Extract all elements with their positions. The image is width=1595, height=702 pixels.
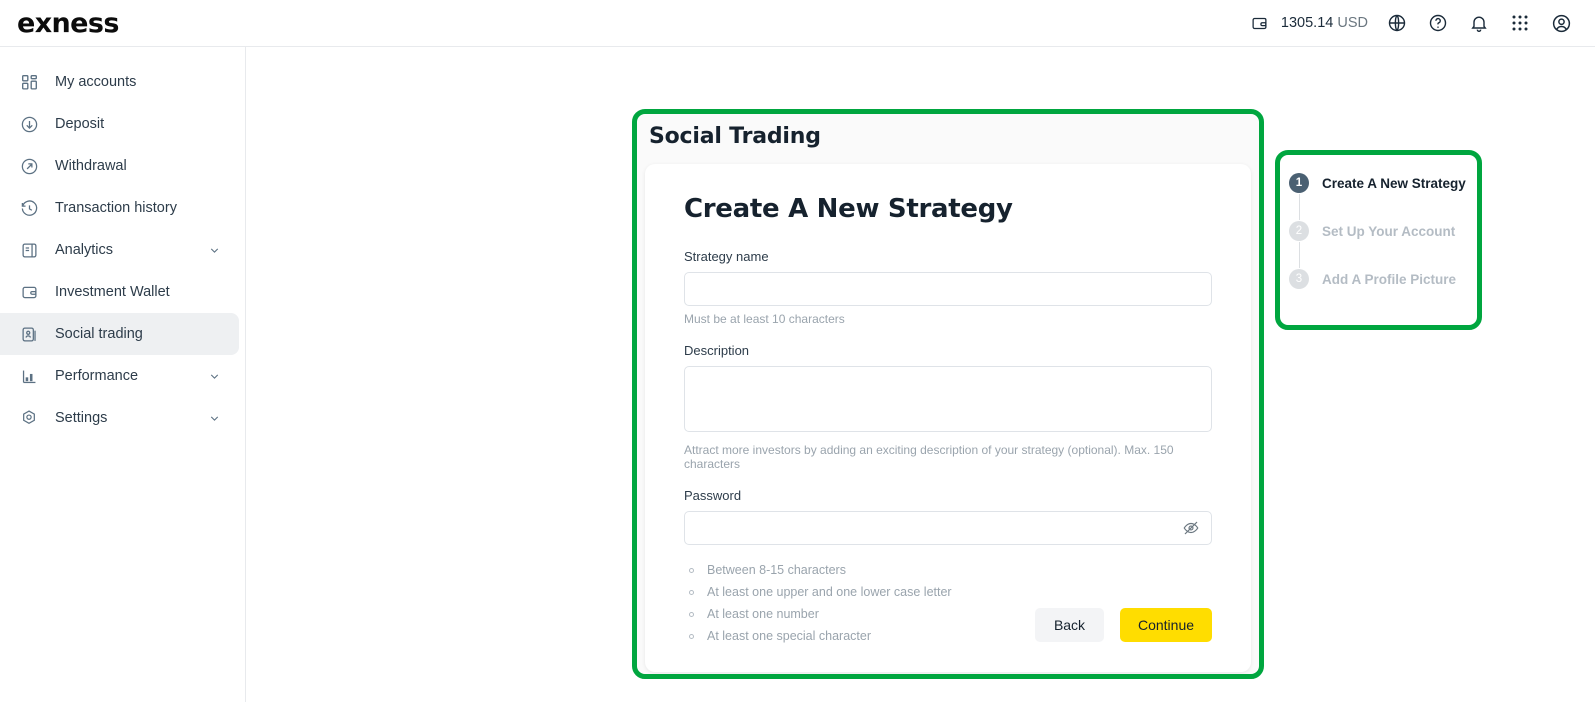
- password-rule-text: At least one number: [707, 607, 819, 621]
- card-title: Create A New Strategy: [684, 194, 1212, 224]
- sidebar-item-label: Transaction history: [55, 200, 177, 216]
- step-connector-line: [1299, 194, 1300, 220]
- strategy-name-field-group: Strategy name Must be at least 10 charac…: [684, 249, 1212, 326]
- sidebar-item-performance[interactable]: Performance: [0, 355, 239, 397]
- strategy-name-label: Strategy name: [684, 249, 1212, 264]
- description-field-group: Description Attract more investors by ad…: [684, 343, 1212, 471]
- password-rule-item: At least one upper and one lower case le…: [684, 581, 1212, 603]
- history-clock-icon: [18, 197, 40, 219]
- form-actions: Back Continue: [1035, 608, 1212, 642]
- sidebar-item-transaction-history[interactable]: Transaction history: [0, 187, 239, 229]
- step-item-2[interactable]: 2 Set Up Your Account: [1289, 220, 1474, 242]
- sidebar-item-label: Withdrawal: [55, 158, 127, 174]
- password-rule-text: At least one special character: [707, 629, 871, 643]
- strategy-name-input[interactable]: [684, 272, 1212, 306]
- bell-icon[interactable]: [1467, 11, 1491, 35]
- app-header: exness 1305.14 USD: [0, 0, 1595, 47]
- exness-logo: exness: [17, 8, 119, 39]
- globe-icon[interactable]: [1385, 11, 1409, 35]
- sidebar-item-label: Performance: [55, 368, 138, 384]
- balance-amount: 1305.14: [1281, 15, 1333, 31]
- sidebar-item-withdrawal[interactable]: Withdrawal: [0, 145, 239, 187]
- chevron-down-icon[interactable]: [208, 370, 221, 383]
- withdrawal-arrow-up-icon: [18, 155, 40, 177]
- continue-button[interactable]: Continue: [1120, 608, 1212, 642]
- description-helper: Attract more investors by adding an exci…: [684, 443, 1212, 471]
- account-icon[interactable]: [1549, 11, 1573, 35]
- chevron-down-icon[interactable]: [208, 412, 221, 425]
- balance-value: 1305.14 USD: [1281, 15, 1368, 31]
- description-textarea[interactable]: [684, 366, 1212, 432]
- password-rule-text: At least one upper and one lower case le…: [707, 585, 952, 599]
- password-input[interactable]: [684, 511, 1212, 545]
- sidebar-item-label: Analytics: [55, 242, 113, 258]
- bullet-circle-icon: [689, 634, 694, 639]
- dashboard-icon: [18, 71, 40, 93]
- strategy-name-helper: Must be at least 10 characters: [684, 312, 1212, 326]
- description-label: Description: [684, 343, 1212, 358]
- bullet-circle-icon: [689, 612, 694, 617]
- bar-chart-icon: [18, 365, 40, 387]
- header-actions: 1305.14 USD: [1248, 11, 1573, 35]
- sidebar-item-settings[interactable]: Settings: [0, 397, 239, 439]
- step-connector-line: [1299, 242, 1300, 268]
- social-trading-icon: [18, 323, 40, 345]
- sidebar-item-analytics[interactable]: Analytics: [0, 229, 239, 271]
- apps-grid-icon[interactable]: [1508, 11, 1532, 35]
- wallet-icon: [18, 281, 40, 303]
- step-number-badge: 2: [1289, 221, 1309, 241]
- balance-currency: USD: [1337, 15, 1368, 31]
- sidebar-item-label: Investment Wallet: [55, 284, 170, 300]
- back-button[interactable]: Back: [1035, 608, 1104, 642]
- social-trading-panel: Social Trading Create A New Strategy Str…: [637, 114, 1259, 674]
- balance-display[interactable]: 1305.14 USD: [1248, 11, 1368, 35]
- step-label: Set Up Your Account: [1322, 224, 1455, 239]
- sidebar-item-label: Settings: [55, 410, 107, 426]
- password-rule-text: Between 8-15 characters: [707, 563, 846, 577]
- analytics-document-icon: [18, 239, 40, 261]
- step-number-badge: 1: [1289, 173, 1309, 193]
- create-strategy-card: Create A New Strategy Strategy name Must…: [645, 164, 1251, 672]
- sidebar-item-my-accounts[interactable]: My accounts: [0, 61, 239, 103]
- settings-gear-icon: [18, 407, 40, 429]
- step-item-1[interactable]: 1 Create A New Strategy: [1289, 172, 1474, 194]
- sidebar-item-label: My accounts: [55, 74, 136, 90]
- help-icon[interactable]: [1426, 11, 1450, 35]
- page-title: Social Trading: [649, 124, 821, 149]
- bullet-circle-icon: [689, 568, 694, 573]
- password-input-wrapper: [684, 511, 1212, 545]
- step-item-3[interactable]: 3 Add A Profile Picture: [1289, 268, 1474, 290]
- steps-progress-panel: 1 Create A New Strategy 2 Set Up Your Ac…: [1283, 158, 1474, 322]
- main-content: Social Trading Create A New Strategy Str…: [246, 47, 1595, 702]
- step-number-badge: 3: [1289, 269, 1309, 289]
- sidebar-item-investment-wallet[interactable]: Investment Wallet: [0, 271, 239, 313]
- step-label: Create A New Strategy: [1322, 176, 1466, 191]
- password-label: Password: [684, 488, 1212, 503]
- eye-off-icon[interactable]: [1182, 519, 1200, 537]
- deposit-arrow-down-icon: [18, 113, 40, 135]
- bullet-circle-icon: [689, 590, 694, 595]
- step-label: Add A Profile Picture: [1322, 272, 1456, 287]
- sidebar-item-deposit[interactable]: Deposit: [0, 103, 239, 145]
- wallet-icon: [1248, 11, 1272, 35]
- password-rule-item: Between 8-15 characters: [684, 559, 1212, 581]
- sidebar-item-label: Social trading: [55, 326, 143, 342]
- sidebar-item-social-trading[interactable]: Social trading: [0, 313, 239, 355]
- chevron-down-icon[interactable]: [208, 244, 221, 257]
- sidebar-item-label: Deposit: [55, 116, 104, 132]
- sidebar-nav: My accounts Deposit Withdrawal Transacti…: [0, 47, 246, 702]
